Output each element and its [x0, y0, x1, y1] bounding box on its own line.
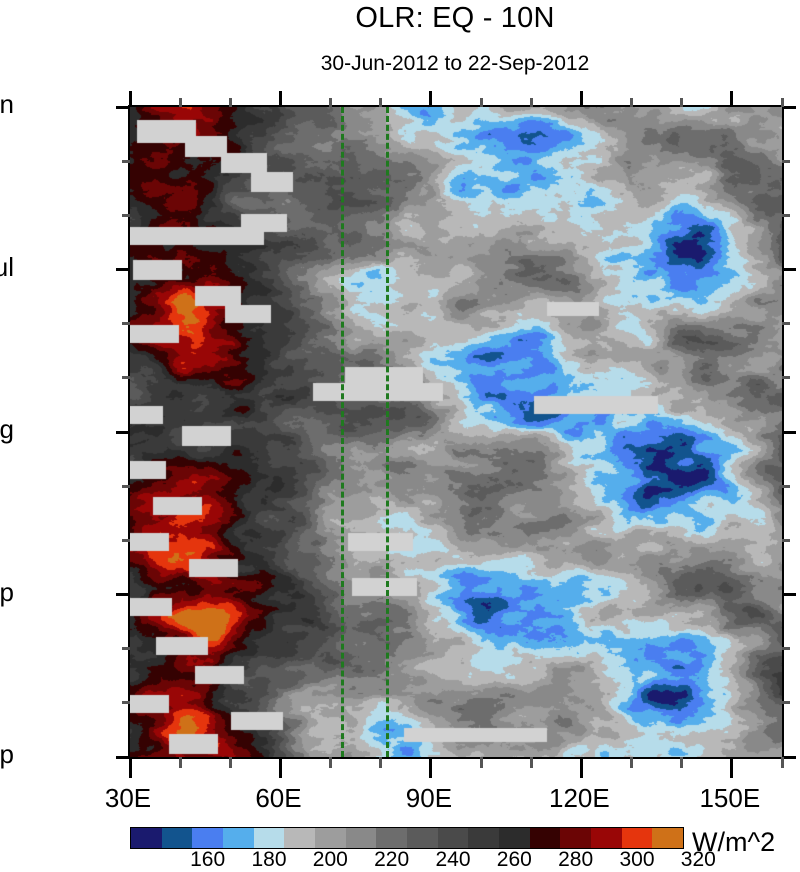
y-tick-minor: [782, 647, 790, 650]
y-tick-minor: [782, 701, 790, 704]
x-tick-major: [730, 757, 733, 778]
y-axis-label: 11-Aug: [0, 414, 14, 445]
x-tick-minor: [630, 98, 633, 107]
y-tick-major: [782, 268, 796, 271]
colorbar-swatch-13: [530, 828, 561, 848]
colorbar-tick-label: 300: [619, 848, 654, 872]
x-tick-minor: [781, 98, 784, 107]
y-tick-minor: [782, 322, 790, 325]
x-tick-major: [429, 757, 432, 778]
y-tick-major: [116, 593, 130, 596]
colorbar-swatch-3: [223, 828, 254, 848]
y-tick-major: [116, 268, 130, 271]
x-tick-minor: [530, 757, 533, 768]
x-tick-major: [279, 91, 282, 107]
y-tick-minor: [122, 214, 130, 217]
y-tick-major: [782, 431, 796, 434]
y-tick-minor: [782, 160, 790, 163]
x-axis-label: 90E: [406, 783, 452, 814]
x-tick-major: [580, 757, 583, 778]
colorbar-swatch-5: [284, 828, 315, 848]
colorbar-swatch-17: [652, 828, 683, 848]
x-tick-minor: [680, 757, 683, 768]
y-tick-minor: [122, 160, 130, 163]
colorbar-swatch-7: [346, 828, 377, 848]
x-tick-minor: [229, 757, 232, 768]
x-tick-minor: [379, 98, 382, 107]
y-tick-minor: [122, 701, 130, 704]
y-tick-minor: [122, 376, 130, 379]
x-tick-minor: [229, 98, 232, 107]
x-tick-minor: [329, 757, 332, 768]
y-tick-minor: [782, 539, 790, 542]
y-tick-major: [116, 431, 130, 434]
y-tick-minor: [122, 485, 130, 488]
colorbar-tick-label: 200: [313, 848, 348, 872]
y-tick-minor: [122, 647, 130, 650]
colorbar-units-label: W/m^2: [692, 827, 775, 858]
x-axis-label: 150E: [699, 783, 760, 814]
colorbar-tick-label: 280: [558, 848, 593, 872]
y-tick-minor: [782, 376, 790, 379]
colorbar-swatch-11: [468, 828, 499, 848]
colorbar-swatch-0: [131, 828, 162, 848]
reference-line-0: [341, 107, 344, 757]
colorbar-tick-label: 220: [374, 848, 409, 872]
y-tick-minor: [122, 539, 130, 542]
reference-line-1: [386, 107, 389, 757]
olr-contour-field: [130, 107, 782, 757]
x-tick-major: [129, 757, 132, 778]
colorbar-swatch-15: [591, 828, 622, 848]
x-tick-minor: [179, 757, 182, 768]
colorbar-swatch-8: [376, 828, 407, 848]
x-tick-minor: [329, 98, 332, 107]
colorbar-swatch-14: [560, 828, 591, 848]
colorbar-swatch-4: [254, 828, 285, 848]
colorbar-swatch-16: [622, 828, 653, 848]
x-axis-label: 30E: [105, 783, 151, 814]
x-tick-minor: [630, 757, 633, 768]
x-tick-major: [129, 91, 132, 107]
x-tick-major: [429, 91, 432, 107]
x-axis-label: 60E: [255, 783, 301, 814]
y-tick-major: [782, 106, 796, 109]
colorbar-swatch-2: [192, 828, 223, 848]
x-tick-minor: [680, 98, 683, 107]
colorbar-swatch-12: [499, 828, 530, 848]
colorbar-tick-label: 240: [435, 848, 470, 872]
colorbar-swatch-10: [438, 828, 469, 848]
x-tick-minor: [179, 98, 182, 107]
colorbar: [130, 827, 684, 849]
x-tick-minor: [530, 98, 533, 107]
x-tick-minor: [480, 98, 483, 107]
y-axis-label: 21-Jul: [0, 252, 14, 283]
hovmoller-plot-area: [128, 105, 784, 759]
x-tick-major: [730, 91, 733, 107]
y-tick-minor: [782, 214, 790, 217]
colorbar-swatch-9: [407, 828, 438, 848]
y-tick-major: [782, 756, 796, 759]
x-tick-minor: [781, 757, 784, 768]
y-tick-minor: [122, 322, 130, 325]
y-tick-major: [782, 593, 796, 596]
x-tick-major: [580, 91, 583, 107]
colorbar-tick-label: 160: [190, 848, 225, 872]
page-subtitle: 30-Jun-2012 to 22-Sep-2012: [0, 52, 800, 76]
y-axis-label: 30-Jun: [0, 89, 14, 120]
colorbar-tick-label: 180: [251, 848, 286, 872]
page-title: OLR: EQ - 10N: [0, 2, 800, 35]
x-tick-minor: [379, 757, 382, 768]
colorbar-swatch-1: [162, 828, 193, 848]
y-axis-label: 22-Sep: [0, 739, 14, 770]
y-axis-label: 1-Sep: [0, 577, 14, 608]
x-tick-minor: [480, 757, 483, 768]
x-tick-major: [279, 757, 282, 778]
x-axis-label: 120E: [549, 783, 610, 814]
y-tick-minor: [782, 485, 790, 488]
colorbar-swatch-6: [315, 828, 346, 848]
colorbar-tick-label: 260: [497, 848, 532, 872]
